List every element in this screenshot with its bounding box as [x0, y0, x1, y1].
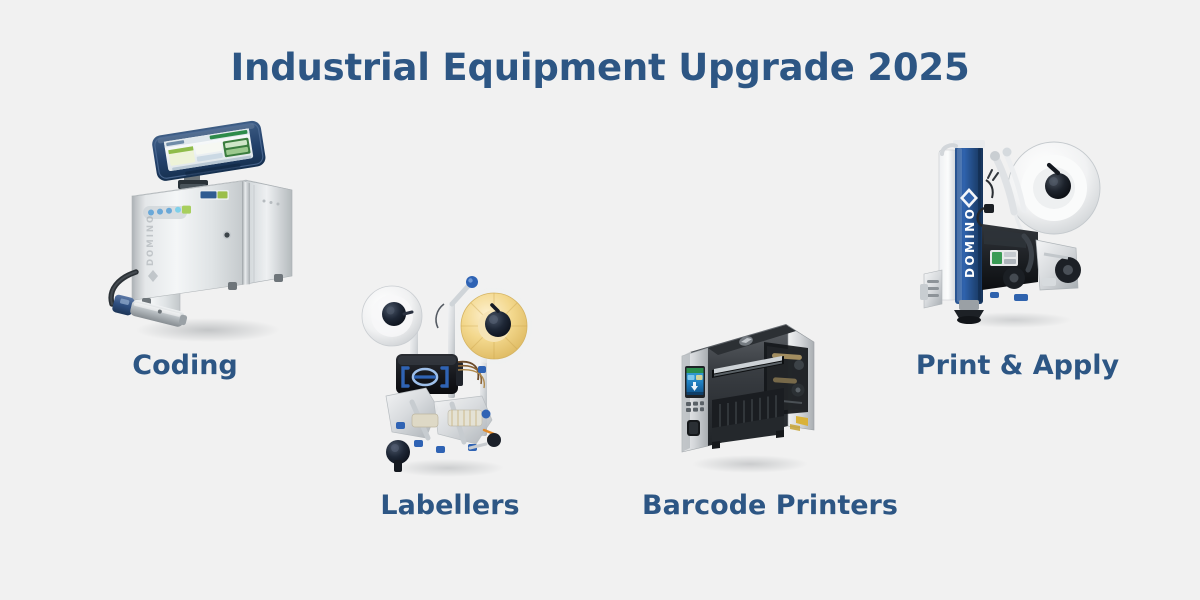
- right-reel: [456, 288, 532, 364]
- left-reel: [362, 286, 422, 346]
- product-image-labellers: [352, 262, 538, 480]
- svg-text:DOMINO: DOMINO: [146, 214, 156, 266]
- category-label-coding: Coding: [85, 350, 285, 381]
- product-image-coding: DOMINO: [96, 118, 306, 348]
- brand-wordmark: DOMINO: [963, 207, 977, 278]
- product-image-barcode-printers: [668, 308, 826, 480]
- brand-wordmark-vertical: DOMINO: [146, 214, 156, 266]
- category-label-labellers: Labellers: [350, 490, 550, 521]
- coding-printer-illustration: DOMINO: [96, 118, 306, 348]
- category-label-print-and-apply: Print & Apply: [905, 350, 1130, 381]
- labeller-illustration: [352, 262, 538, 480]
- barcode-printer-illustration: [668, 308, 826, 480]
- page-title: Industrial Equipment Upgrade 2025: [0, 46, 1200, 89]
- print-apply-illustration: DOMINO: [918, 128, 1104, 332]
- category-label-barcode-printers: Barcode Printers: [610, 490, 930, 521]
- poster-canvas: Industrial Equipment Upgrade 2025: [0, 0, 1200, 600]
- drive-motor-housing: [396, 354, 463, 394]
- model-badge: [199, 190, 229, 200]
- product-image-print-and-apply: DOMINO: [918, 128, 1104, 332]
